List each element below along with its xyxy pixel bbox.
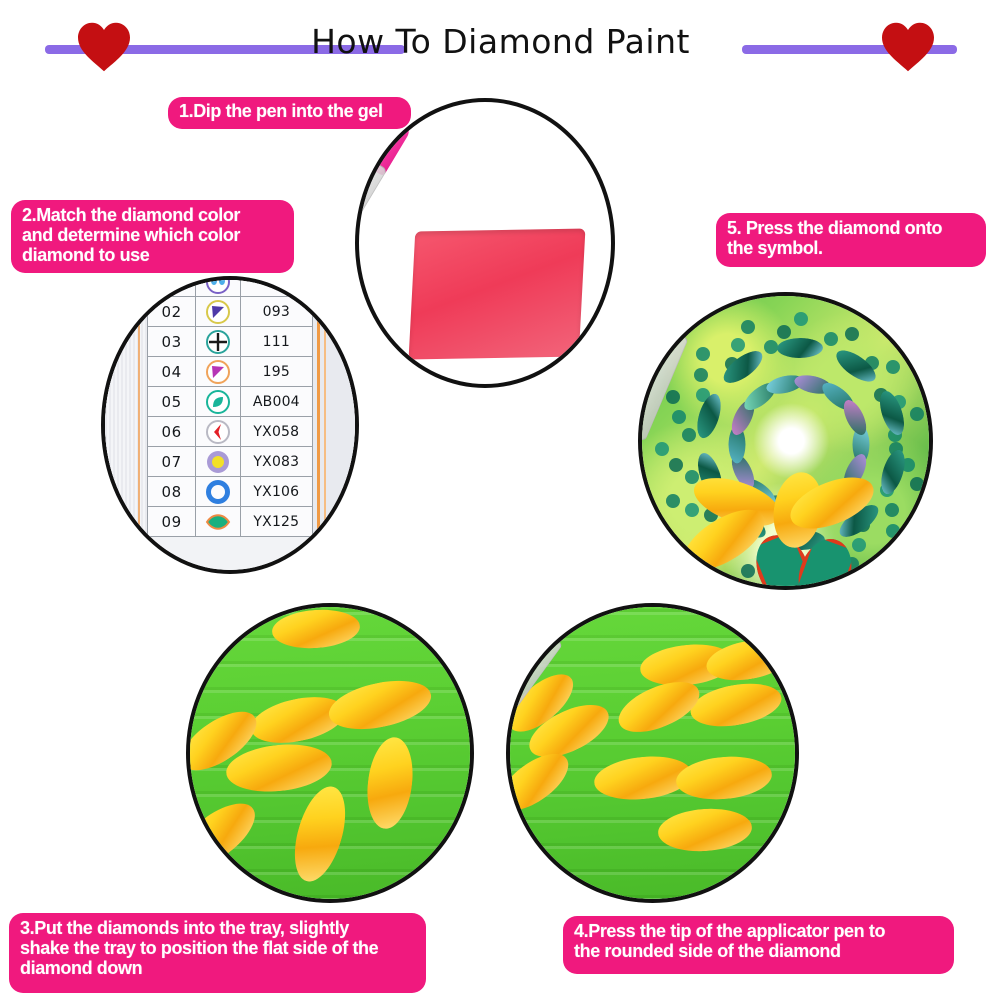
color-chart-number: 05 xyxy=(148,387,196,417)
color-chart-row: 03111 xyxy=(148,327,313,357)
step-4-label: 4.Press the tip of the applicator pen to… xyxy=(563,916,954,974)
canvas-symbol-dot xyxy=(666,494,680,508)
color-chart-code: 111 xyxy=(240,327,312,357)
canvas-symbol-dot xyxy=(764,340,778,354)
color-chart-symbol-icon xyxy=(196,477,240,507)
color-chart-symbol-icon xyxy=(196,507,240,537)
canvas-symbol-dot xyxy=(682,428,696,442)
color-chart-legend-photo: 0102802093031110419505AB00406YX05807YX08… xyxy=(103,278,357,572)
diamond-pressed-onto-canvas-photo xyxy=(640,294,931,588)
color-chart-number: 01 xyxy=(148,276,196,297)
canvas-fabric-edge xyxy=(101,276,147,574)
page-title: How To Diamond Paint xyxy=(0,22,1001,61)
canvas-symbol-dot xyxy=(886,524,900,538)
color-chart-number: 06 xyxy=(148,417,196,447)
color-chart-code: YX083 xyxy=(240,447,312,477)
canvas-symbol-dot xyxy=(741,564,755,578)
crystal-gem xyxy=(777,338,823,359)
canvas-symbol-dot xyxy=(886,360,900,374)
step-3-label: 3.Put the diamonds into the tray, slight… xyxy=(9,913,426,993)
color-chart-symbol-icon xyxy=(196,447,240,477)
color-chart-symbol-icon xyxy=(196,327,240,357)
canvas-symbol-dot xyxy=(741,320,755,334)
color-chart-code: 195 xyxy=(240,357,312,387)
color-chart-row: 09YX125 xyxy=(148,507,313,537)
canvas-symbol-dot xyxy=(885,503,899,517)
red-gel-pad xyxy=(409,229,586,360)
step-2-photo-bubble: 0102802093031110419505AB00406YX05807YX08… xyxy=(101,276,359,574)
color-chart-number: 08 xyxy=(148,477,196,507)
color-chart-row: 01028 xyxy=(148,276,313,297)
pen-tip xyxy=(506,694,508,754)
color-chart-code: 093 xyxy=(240,297,312,327)
pen-dipping-into-gel-photo xyxy=(357,100,613,386)
canvas-symbol-dot xyxy=(685,470,699,484)
canvas-symbol-dot xyxy=(669,458,683,472)
canvas-symbol-dot xyxy=(731,338,745,352)
color-chart-row: 08YX106 xyxy=(148,477,313,507)
canvas-symbol-dot xyxy=(672,410,686,424)
color-chart-row: 04195 xyxy=(148,357,313,387)
color-chart-number: 03 xyxy=(148,327,196,357)
infographic-page: How To Diamond Paint 1.Dip the pen into … xyxy=(0,0,1001,1001)
step-3-label-text: 3.Put the diamonds into the tray, slight… xyxy=(20,918,378,978)
step-2-label-text: 2.Match the diamond colorand determine w… xyxy=(22,205,240,265)
step-5-label-text: 5. Press the diamond ontothe symbol. xyxy=(727,218,942,258)
color-chart-symbol-icon xyxy=(196,276,240,297)
canvas-symbol-dot xyxy=(655,442,669,456)
color-chart-code: YX106 xyxy=(240,477,312,507)
canvas-symbol-dot xyxy=(694,368,708,382)
canvas-symbol-dot xyxy=(794,312,808,326)
color-chart-row: 05AB004 xyxy=(148,387,313,417)
color-chart-number: 02 xyxy=(148,297,196,327)
color-chart-table: 0102802093031110419505AB00406YX05807YX08… xyxy=(147,276,313,537)
canvas-symbol-dot xyxy=(666,390,680,404)
canvas-symbol-dot xyxy=(696,347,710,361)
color-chart-code: 028 xyxy=(240,276,312,297)
step-5-label: 5. Press the diamond ontothe symbol. xyxy=(716,213,986,267)
step-1-photo-bubble xyxy=(355,98,615,388)
color-chart-code: AB004 xyxy=(240,387,312,417)
color-chart-symbol-icon xyxy=(196,417,240,447)
step-2-label: 2.Match the diamond colorand determine w… xyxy=(11,200,294,273)
step-3-photo-bubble xyxy=(186,603,474,903)
step-4-photo-bubble xyxy=(506,603,799,903)
color-chart-row: 06YX058 xyxy=(148,417,313,447)
color-chart-number: 04 xyxy=(148,357,196,387)
color-chart-number: 07 xyxy=(148,447,196,477)
color-chart-symbol-icon xyxy=(196,297,240,327)
canvas-symbol-dot xyxy=(824,332,838,346)
canvas-symbol-dot xyxy=(685,503,699,517)
color-chart-code: YX058 xyxy=(240,417,312,447)
pen-picking-up-diamond-photo xyxy=(508,605,797,901)
canvas-symbol-dot xyxy=(777,325,791,339)
diamonds-in-tray-photo xyxy=(188,605,472,901)
color-chart-number: 09 xyxy=(148,507,196,537)
color-chart-code: YX125 xyxy=(240,507,312,537)
page-header: How To Diamond Paint xyxy=(0,0,1001,80)
color-chart-row: 02093 xyxy=(148,297,313,327)
step-5-photo-bubble xyxy=(638,292,933,590)
canvas-symbol-dot xyxy=(852,538,866,552)
chart-right-margin xyxy=(311,276,359,574)
color-chart-row: 07YX083 xyxy=(148,447,313,477)
step-4-label-text: 4.Press the tip of the applicator pen to… xyxy=(574,921,885,961)
canvas-symbol-dot xyxy=(910,407,924,421)
color-chart-symbol-icon xyxy=(196,387,240,417)
color-chart-symbol-icon xyxy=(196,357,240,387)
canvas-symbol-dot xyxy=(845,327,859,341)
canvas-symbol-dot xyxy=(910,477,924,491)
